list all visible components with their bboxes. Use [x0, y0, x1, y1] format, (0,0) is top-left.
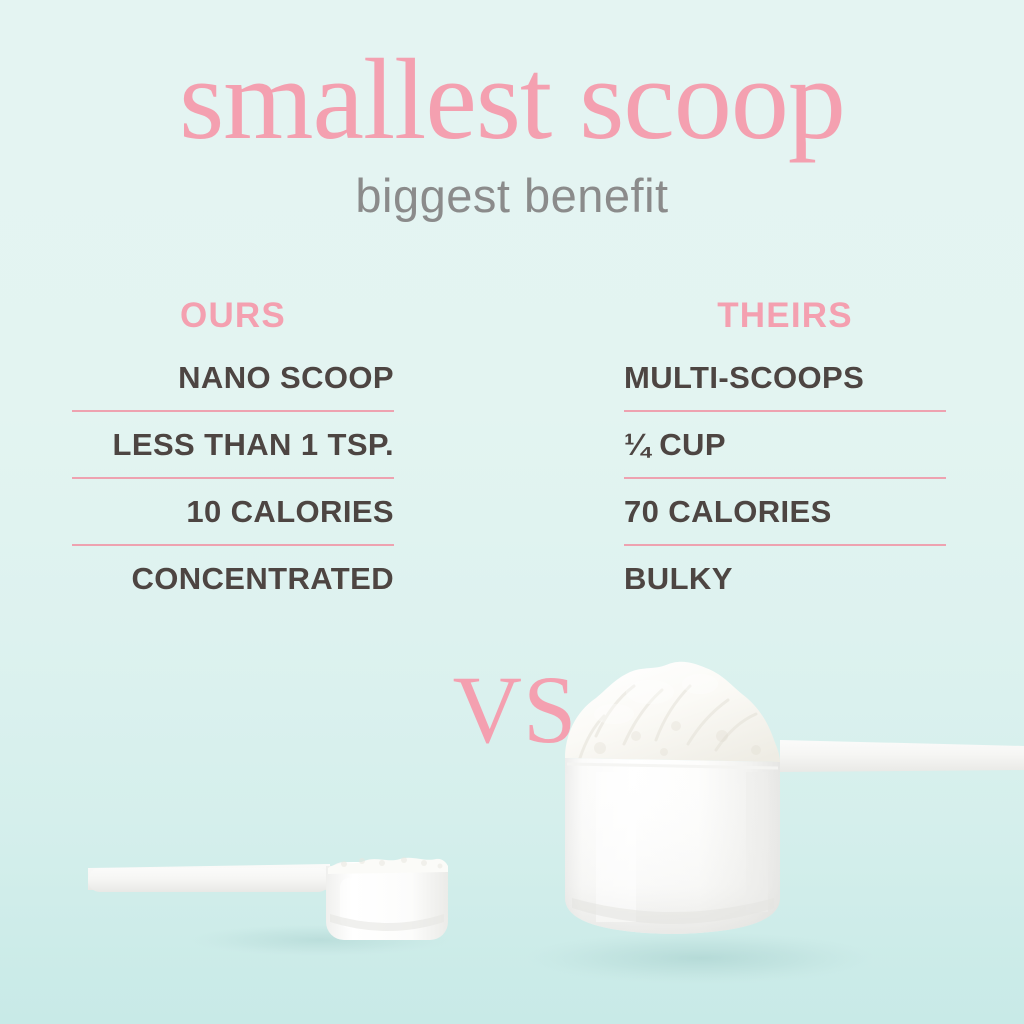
row-divider	[624, 410, 946, 412]
comparison-column-theirs: THEIRS MULTI-SCOOPS ¼ CUP 70 CALORIES BU…	[624, 296, 946, 597]
page-subtitle: biggest benefit	[0, 168, 1024, 223]
table-row: LESS THAN 1 TSP.	[72, 427, 394, 463]
table-row: CONCENTRATED	[72, 561, 394, 597]
row-divider	[72, 544, 394, 546]
column-header-theirs: THEIRS	[624, 296, 946, 340]
table-row: ¼ CUP	[624, 427, 946, 463]
table-row: NANO SCOOP	[72, 360, 394, 396]
promo-graphic: smallest scoop biggest benefit OURS NANO…	[0, 0, 1024, 1024]
row-divider	[624, 544, 946, 546]
row-divider	[72, 477, 394, 479]
comparison-column-ours: OURS NANO SCOOP LESS THAN 1 TSP. 10 CALO…	[72, 296, 394, 597]
comparison-table: OURS NANO SCOOP LESS THAN 1 TSP. 10 CALO…	[0, 296, 1024, 636]
page-title: smallest scoop	[0, 42, 1024, 158]
small-scoop	[88, 857, 450, 956]
scoop-illustration	[0, 640, 1024, 1024]
table-row: BULKY	[624, 561, 946, 597]
large-scoop	[525, 662, 1024, 984]
table-row: MULTI-SCOOPS	[624, 360, 946, 396]
scoop-imagery	[0, 640, 1024, 1024]
row-divider	[72, 410, 394, 412]
row-divider	[624, 477, 946, 479]
table-row: 70 CALORIES	[624, 494, 946, 530]
table-row: 10 CALORIES	[72, 494, 394, 530]
column-header-ours: OURS	[72, 296, 394, 340]
